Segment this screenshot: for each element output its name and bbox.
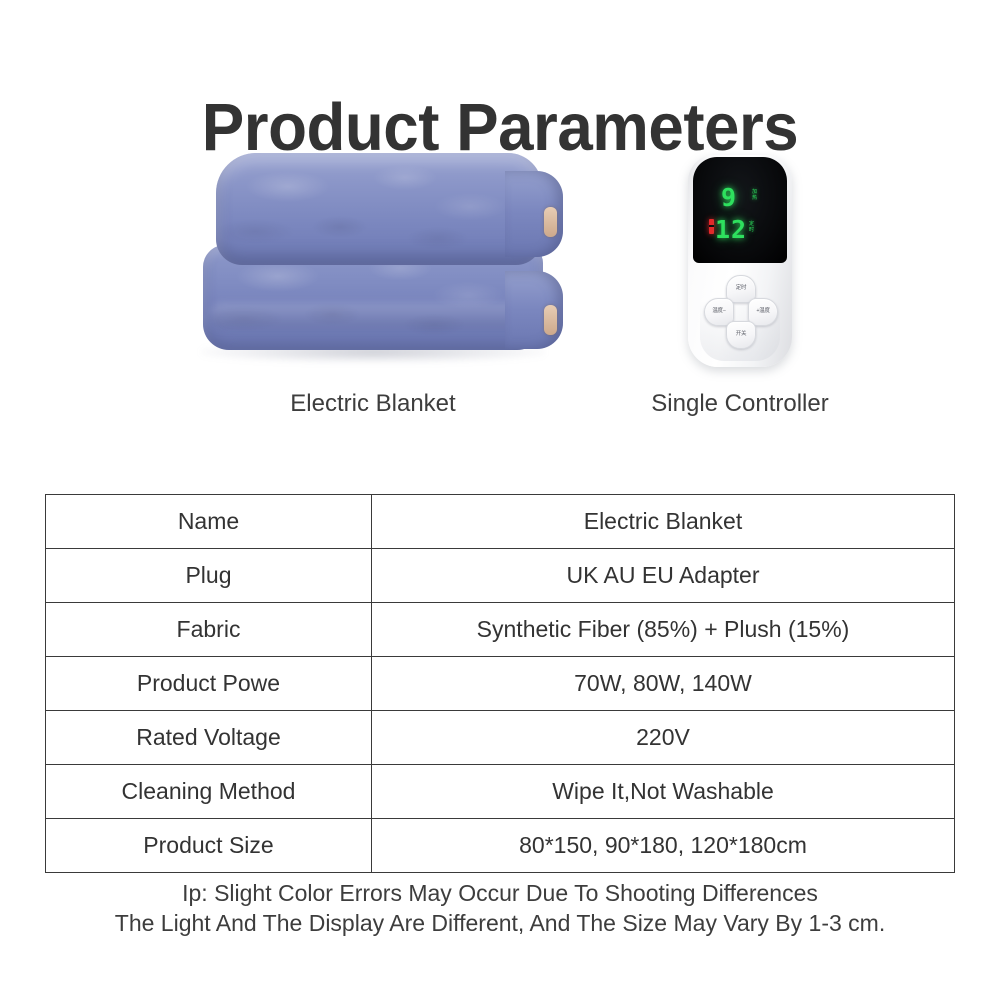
blanket-caption: Electric Blanket <box>183 390 563 418</box>
param-value: Electric Blanket <box>372 495 955 549</box>
footnote-line-1: Ip: Slight Color Errors May Occur Due To… <box>0 878 1000 908</box>
controller-button-pad: 定时 温度− +温度 开关 <box>704 275 776 347</box>
param-key: Fabric <box>46 603 372 657</box>
blanket-fold-upper <box>216 153 542 265</box>
product-parameters-table: Name Electric Blanket Plug UK AU EU Adap… <box>45 494 955 873</box>
display-timer-value: 12 <box>715 215 747 244</box>
param-value: UK AU EU Adapter <box>372 549 955 603</box>
param-key: Cleaning Method <box>46 765 372 819</box>
table-row: Product Powe 70W, 80W, 140W <box>46 657 955 711</box>
table-row: Product Size 80*150, 90*180, 120*180cm <box>46 819 955 873</box>
table-row: Plug UK AU EU Adapter <box>46 549 955 603</box>
param-key: Plug <box>46 549 372 603</box>
param-value: 220V <box>372 711 955 765</box>
display-heat-label: 加热 <box>751 189 758 201</box>
param-value: Synthetic Fiber (85%) + Plush (15%) <box>372 603 955 657</box>
plush-texture <box>216 153 542 265</box>
table-row: Cleaning Method Wipe It,Not Washable <box>46 765 955 819</box>
display-heat-value: 9 <box>721 183 737 212</box>
param-key: Name <box>46 495 372 549</box>
param-key: Product Size <box>46 819 372 873</box>
blanket-trim-accent <box>544 207 557 237</box>
power-button[interactable]: 开关 <box>726 321 756 349</box>
table-row: Fabric Synthetic Fiber (85%) + Plush (15… <box>46 603 955 657</box>
param-key: Rated Voltage <box>46 711 372 765</box>
footnote-line-2: The Light And The Display Are Different,… <box>0 908 1000 938</box>
table-body: Name Electric Blanket Plug UK AU EU Adap… <box>46 495 955 873</box>
single-controller-image: 9 加热 12 定时 定时 温度− +温度 开关 <box>688 155 792 367</box>
param-value: 80*150, 90*180, 120*180cm <box>372 819 955 873</box>
blanket-trim-accent <box>544 305 557 335</box>
param-value: 70W, 80W, 140W <box>372 657 955 711</box>
controller-display-screen: 9 加热 12 定时 <box>693 157 787 263</box>
display-indicator-icon <box>709 219 714 234</box>
display-timer-label: 定时 <box>748 221 755 233</box>
electric-blanket-image <box>183 145 563 385</box>
param-value: Wipe It,Not Washable <box>372 765 955 819</box>
param-key: Product Powe <box>46 657 372 711</box>
table-row: Name Electric Blanket <box>46 495 955 549</box>
footnote: Ip: Slight Color Errors May Occur Due To… <box>0 878 1000 938</box>
product-showcase: 9 加热 12 定时 定时 温度− +温度 开关 Electric Blanke… <box>0 145 1000 445</box>
table-row: Rated Voltage 220V <box>46 711 955 765</box>
controller-caption: Single Controller <box>600 390 880 418</box>
